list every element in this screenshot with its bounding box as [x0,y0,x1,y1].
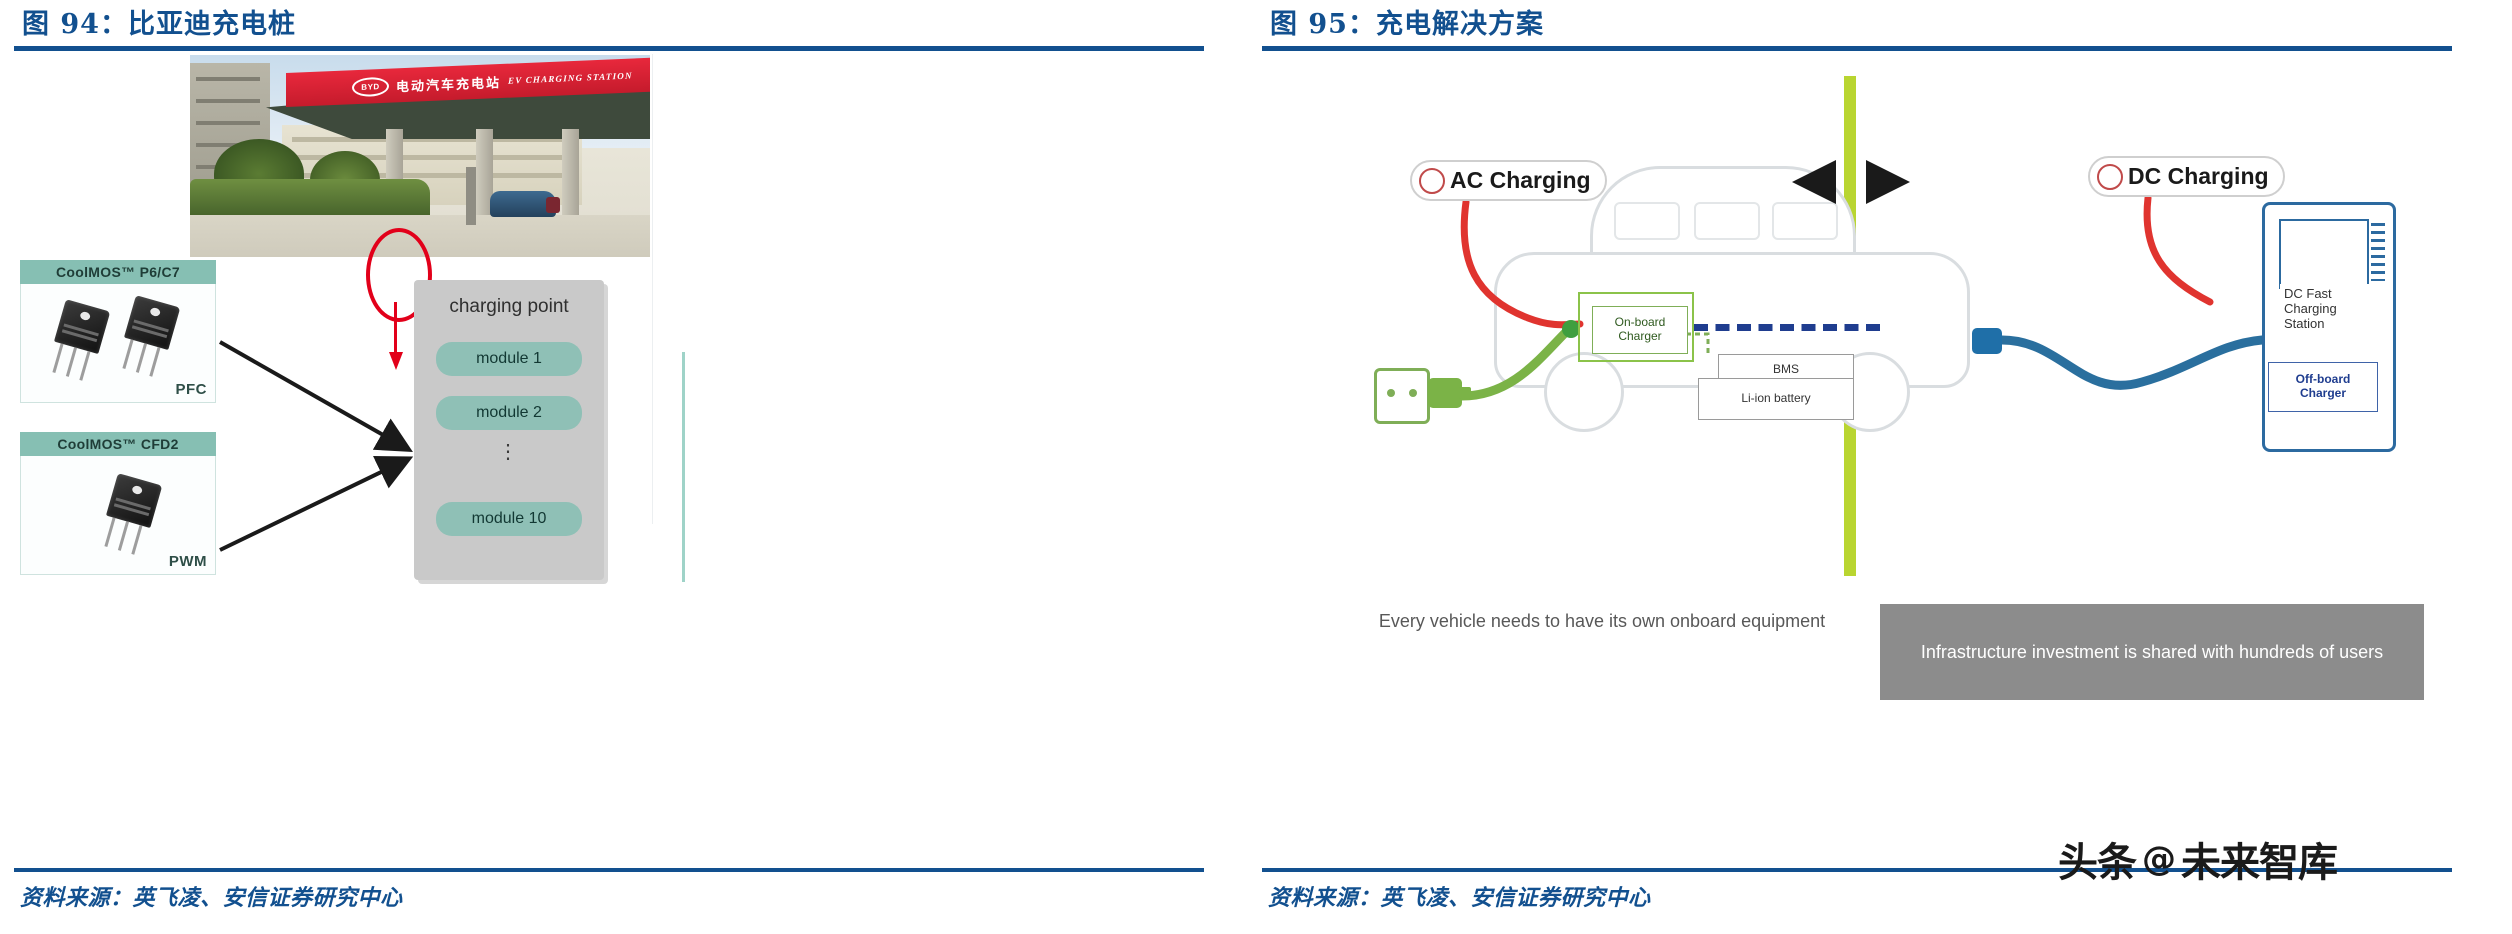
watermark-brand: 头条 [2058,830,2136,888]
module-item: module 1 [436,342,582,376]
figure-panel-94: 图 94：比亚迪充电桩 BYD 电动汽车充电站 EV CHARGING STAT… [14,0,1204,934]
ac-charging-callout: AC Charging [1410,160,1607,201]
device-box-pwm: CoolMOS™ CFD2 PWM [20,432,216,575]
module-ellipsis: ⋮ [414,446,604,458]
watermark-at-icon: @ [2142,839,2175,879]
device-box-pwm-header: CoolMOS™ CFD2 [20,432,216,456]
device-box-pfc-body: PFC [20,284,216,403]
wall-socket-icon [1374,368,1430,424]
device-box-pwm-footer: PWM [169,553,207,570]
station-keypad-icon [2371,223,2385,281]
canvas-guideline [652,54,653,524]
page-title-94: 图 94：比亚迪充电桩 [22,2,296,41]
dc-charging-label: DC Charging [2128,163,2269,190]
onboard-charger-label: On-board Charger [1592,306,1688,354]
figure-panel-95: 图 95：充电解决方案 [1262,0,2452,934]
charging-point-title: charging point [414,296,604,318]
dc-charging-callout: DC Charging [2088,156,2285,197]
figure-95-canvas: On-board Charger BMS Li-ion battery DC F… [1262,52,2452,864]
source-note-94: 资料来源：英飞凌、安信证券研究中心 [20,880,403,912]
device-box-pfc-header: CoolMOS™ P6/C7 [20,260,216,284]
byd-charging-station-photo: BYD 电动汽车充电站 EV CHARGING STATION [190,55,650,257]
connector-arrows [210,282,426,582]
ac-marker-icon [1419,168,1445,194]
figure-page: 图 94：比亚迪充电桩 BYD 电动汽车充电站 EV CHARGING STAT… [0,0,2512,934]
source-note-95: 资料来源：英飞凌、安信证券研究中心 [1268,880,1651,912]
source-rule-94 [14,868,1204,872]
module-item: module 2 [436,396,582,430]
dc-inlet-node [1972,328,2002,354]
ac-charging-label: AC Charging [1450,167,1591,194]
byd-logo-icon: BYD [352,76,389,97]
device-box-pwm-body: PWM [20,456,216,575]
station-display [2279,219,2369,289]
plug-connector-icon [1428,378,1462,408]
figure-94-canvas: BYD 电动汽车充电站 EV CHARGING STATION CoolMO [14,52,1204,864]
offboard-charger-label: Off-board Charger [2268,362,2378,412]
module-item: module 10 [436,502,582,536]
banner-english-text: EV CHARGING STATION [508,70,633,85]
teal-accent-bar [682,352,685,582]
caption-onboard: Every vehicle needs to have its own onbo… [1376,608,1828,635]
photo-charging-post [466,167,476,225]
dc-fast-station-label: DC Fast Charging Station [2280,284,2380,364]
watermark-name: 未来智库 [2181,830,2337,888]
photo-hedge [190,179,430,219]
battery-label: Li-ion battery [1698,378,1854,420]
transistor-icon [116,295,181,379]
banner-chinese-text: 电动汽车充电站 [396,71,501,94]
transistor-icon [98,473,163,557]
page-title-95: 图 95：充电解决方案 [1270,2,1544,41]
device-box-pfc: CoolMOS™ P6/C7 PFC [20,260,216,403]
photo-parked-car [490,191,556,217]
transistor-icon [46,299,111,383]
device-box-pfc-footer: PFC [176,381,208,398]
watermark: 头条 @ 未来智库 [2058,830,2337,888]
charging-point-panel: charging point module 1 module 2 ⋮ modul… [414,280,604,580]
dc-marker-icon [2097,164,2123,190]
caption-infrastructure: Infrastructure investment is shared with… [1880,604,2424,700]
title-rule-95 [1262,46,2452,51]
title-rule-94 [14,46,1204,51]
